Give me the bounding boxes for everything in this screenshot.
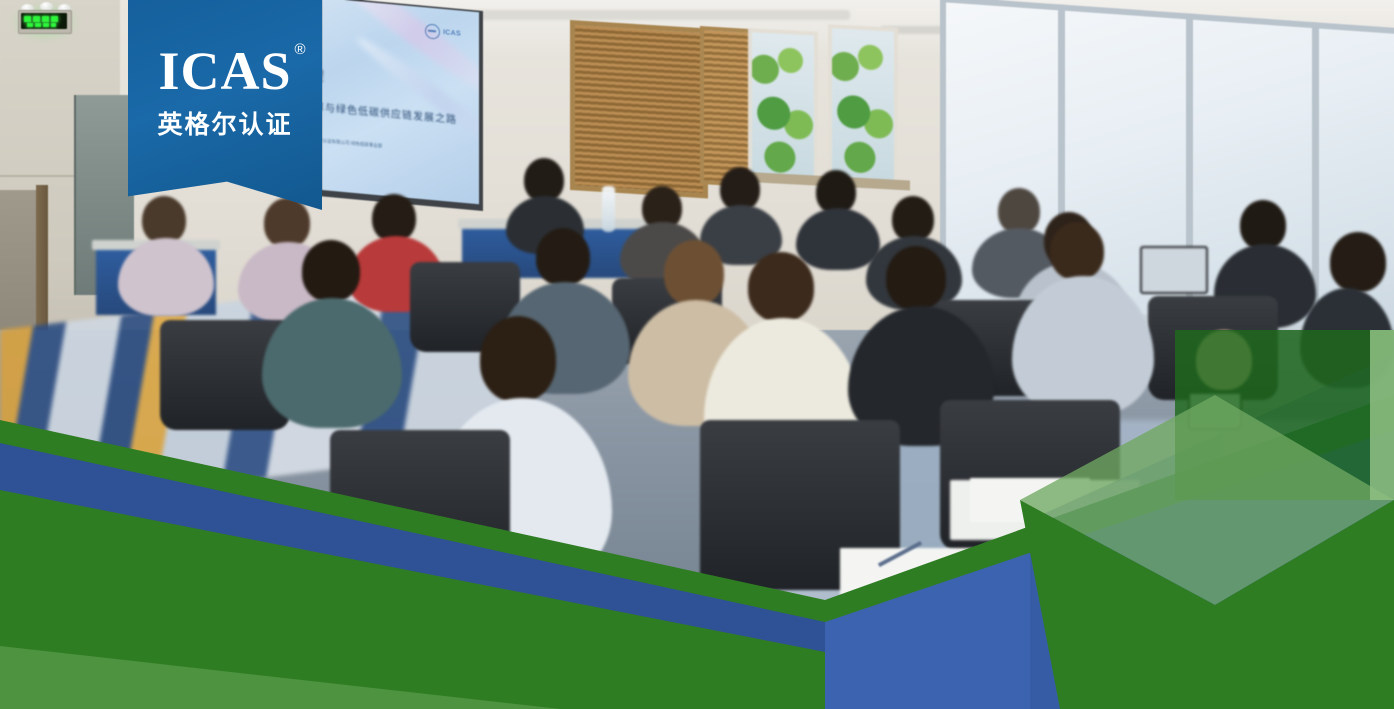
chevron-green-sliver [1370,330,1394,500]
banner-canvas: ICAS 架 碳核算与绿色低碳供应链发展之路 上海英格尔认证有限公司 绿色低碳事… [0,0,1394,709]
logo-wordmark: ICAS ® [158,44,291,98]
logo-chinese-name: 英格尔认证 [157,105,292,141]
icas-logo-panel: ICAS ® 英格尔认证 [128,0,322,210]
registered-trademark-icon: ® [294,42,306,57]
logo-wordmark-text: ICAS [158,41,291,101]
